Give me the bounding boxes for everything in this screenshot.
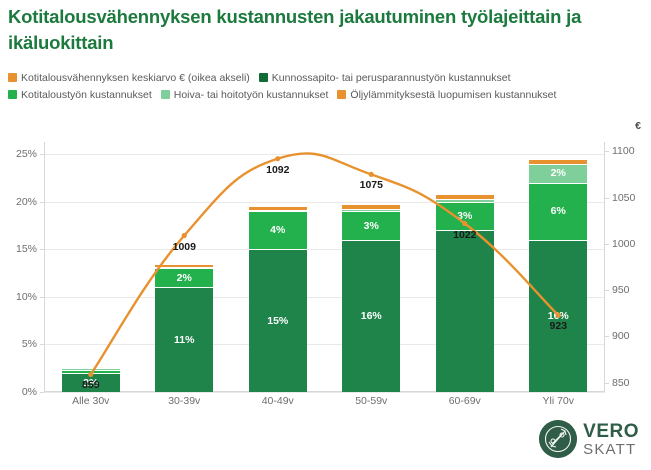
left-axis-tick-label: 0% <box>22 387 37 397</box>
legend-swatch-icon <box>8 90 17 99</box>
x-axis-tick-label: 30-39v <box>138 395 232 407</box>
logo-skatt-text: SKATT <box>583 442 639 457</box>
bar-segment-label: 2% <box>177 273 192 284</box>
chart-screenshot: Kotitalousvähennyksen kustannusten jakau… <box>0 0 651 470</box>
bar-segment[interactable] <box>436 194 494 199</box>
right-axis-tick-label: 900 <box>612 331 630 341</box>
legend-swatch-icon <box>161 90 170 99</box>
bar-group-40-49v[interactable]: 15%4% <box>231 142 325 392</box>
logo-wordmark: VERO SKATT <box>583 422 639 457</box>
bar-segment[interactable] <box>436 199 494 202</box>
bar-stack[interactable]: 15%4% <box>249 206 307 392</box>
bar-segment-label: 15% <box>267 316 288 327</box>
bar-segment-label: 3% <box>457 211 472 222</box>
bar-segment[interactable]: 4% <box>249 211 307 249</box>
legend-item-hoiva[interactable]: Hoiva- tai hoitotyön kustannukset <box>161 89 329 101</box>
bar-segment-label: 16% <box>548 311 569 322</box>
right-axis-tick-label: 1050 <box>612 193 635 203</box>
bar-segment[interactable] <box>342 209 400 212</box>
bar-segment-label: 2% <box>551 168 566 179</box>
bar-group-60-69v[interactable]: 17%3% <box>418 142 512 392</box>
legend-item-kunnossapito[interactable]: Kunnossapito- tai perusparannustyön kust… <box>259 72 511 84</box>
bar-series-group: 2%11%2%15%4%16%3%17%3%16%6%2% <box>44 142 605 392</box>
legend-item-kotitaloustyo[interactable]: Kotitaloustyön kustannukset <box>8 89 152 101</box>
bar-segment[interactable]: 2% <box>529 164 587 183</box>
vero-emblem-svg <box>539 420 577 458</box>
left-axis-tick-label: 25% <box>16 149 37 159</box>
chart-plot-area: € 25%20%15%10%5%0% 110010501000950900850… <box>0 112 651 412</box>
right-axis-tick-label: 1000 <box>612 239 635 249</box>
gridline <box>44 392 605 393</box>
bar-stack[interactable]: 16%3% <box>342 204 400 392</box>
right-axis-unit: € <box>635 120 641 132</box>
bar-segment[interactable]: 11% <box>155 287 213 392</box>
legend-item-label: Hoiva- tai hoitotyön kustannukset <box>174 89 329 101</box>
bar-group-yli-70v[interactable]: 16%6%2% <box>512 142 606 392</box>
bar-segment-label: 2% <box>83 378 98 389</box>
logo-vero-text: VERO <box>583 422 639 441</box>
bar-segment[interactable]: 2% <box>155 268 213 287</box>
bar-segment[interactable]: 17% <box>436 230 494 392</box>
right-axis-tick-mark <box>605 383 609 384</box>
bar-group-alle-30v[interactable]: 2% <box>44 142 138 392</box>
bar-segment-label: 11% <box>174 335 194 346</box>
bar-segment-label: 3% <box>364 221 379 232</box>
bar-segment[interactable] <box>62 367 120 368</box>
legend-item-label: Kotitalousvähennyksen keskiarvo € (oikea… <box>21 72 250 84</box>
bar-group-50-59v[interactable]: 16%3% <box>325 142 419 392</box>
bar-stack[interactable]: 2% <box>62 367 120 392</box>
bar-segment[interactable]: 2% <box>62 373 120 392</box>
x-axis-tick-label: Yli 70v <box>512 395 606 407</box>
bar-segment[interactable]: 16% <box>529 240 587 392</box>
left-axis-tick-label: 10% <box>16 292 37 302</box>
legend-swatch-icon <box>337 90 346 99</box>
left-axis-tick-label: 5% <box>22 339 37 349</box>
x-axis-tick-label: 60-69v <box>418 395 512 407</box>
bar-segment[interactable]: 3% <box>436 202 494 231</box>
bar-segment[interactable] <box>249 206 307 210</box>
bar-segment-label: 16% <box>361 311 382 322</box>
left-axis-tick-label: 15% <box>16 244 37 254</box>
right-axis-tick-mark <box>605 244 609 245</box>
right-axis-tick-label: 950 <box>612 285 630 295</box>
right-axis-tick-mark <box>605 151 609 152</box>
bar-segment[interactable] <box>62 370 120 373</box>
bar-group-30-39v[interactable]: 11%2% <box>138 142 232 392</box>
x-axis-tick-label: 50-59v <box>325 395 419 407</box>
page-title: Kotitalousvähennyksen kustannusten jakau… <box>8 4 642 56</box>
bar-segment[interactable] <box>249 210 307 212</box>
right-axis-tick-mark <box>605 336 609 337</box>
bar-segment[interactable]: 16% <box>342 240 400 392</box>
bar-segment[interactable]: 3% <box>342 211 400 240</box>
x-axis-tick-label: Alle 30v <box>44 395 138 407</box>
bar-segment[interactable]: 15% <box>249 249 307 392</box>
right-axis-tick-label: 850 <box>612 378 630 388</box>
bar-stack[interactable]: 11%2% <box>155 264 213 392</box>
bar-segment[interactable] <box>342 204 400 209</box>
bar-segment[interactable] <box>155 264 213 267</box>
bar-stack[interactable]: 17%3% <box>436 194 494 392</box>
plot-rect: 25%20%15%10%5%0% 110010501000950900850 2… <box>44 142 605 392</box>
legend-item-label: Kunnossapito- tai perusparannustyön kust… <box>272 72 511 84</box>
right-axis-tick-mark <box>605 198 609 199</box>
bar-segment[interactable] <box>529 159 587 164</box>
x-axis-tick-label: 40-49v <box>231 395 325 407</box>
bar-stack[interactable]: 16%6%2% <box>529 159 587 392</box>
legend-row: Kotitalousvähennyksen keskiarvo € (oikea… <box>8 69 644 86</box>
right-axis-tick-label: 1100 <box>612 146 635 156</box>
legend-row: Kotitaloustyön kustannukset Hoiva- tai h… <box>8 86 644 103</box>
x-axis-labels: Alle 30v30-39v40-49v50-59v60-69vYli 70v <box>44 395 605 407</box>
bar-segment[interactable]: 6% <box>529 183 587 240</box>
bar-segment-label: 4% <box>270 225 285 236</box>
legend-swatch-icon <box>259 73 268 82</box>
right-axis-tick-mark <box>605 290 609 291</box>
legend-item-oljylammitys[interactable]: Öljylämmityksestä luopumisen kustannukse… <box>337 89 556 101</box>
left-axis-tick-mark <box>40 392 44 393</box>
legend-item-keskiarvo[interactable]: Kotitalousvähennyksen keskiarvo € (oikea… <box>8 72 250 84</box>
vero-emblem-icon <box>539 420 577 458</box>
legend-swatch-icon <box>8 73 17 82</box>
bar-segment-label: 6% <box>551 206 566 217</box>
left-axis-tick-label: 20% <box>16 197 37 207</box>
bar-segment[interactable] <box>155 267 213 269</box>
legend-item-label: Kotitaloustyön kustannukset <box>21 89 152 101</box>
legend-item-label: Öljylämmityksestä luopumisen kustannukse… <box>350 89 556 101</box>
vero-skatt-logo: VERO SKATT <box>539 420 639 458</box>
bar-segment[interactable] <box>62 368 120 370</box>
chart-legend: Kotitalousvähennyksen keskiarvo € (oikea… <box>8 69 644 103</box>
